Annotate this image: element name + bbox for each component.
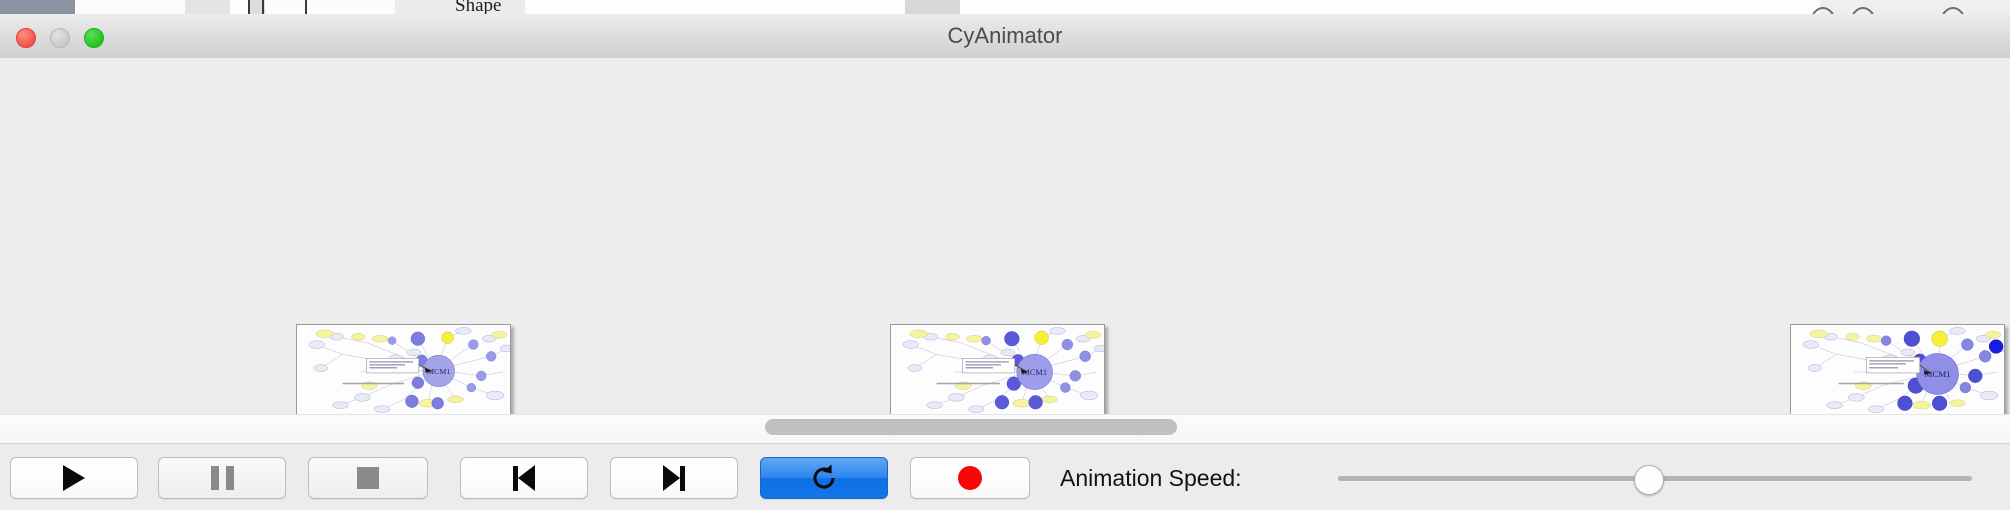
previous-frame-button[interactable] [460, 457, 588, 499]
animation-speed-slider-thumb[interactable] [1634, 465, 1664, 495]
play-icon [63, 465, 85, 491]
background-divider [262, 0, 264, 15]
playback-control-bar: Animation Speed: [0, 443, 2010, 510]
network-preview: MCM1 [297, 325, 510, 415]
background-window-strip: Shape [0, 0, 2010, 15]
skip-forward-icon [663, 465, 685, 491]
timeline-scrollbar-thumb[interactable] [765, 419, 1177, 435]
svg-text:MCM1: MCM1 [1924, 369, 1950, 379]
background-tab [0, 0, 75, 15]
background-divider [248, 0, 250, 15]
cyanimator-window: Shape CyAnimator + Clear All Frames [0, 0, 2010, 510]
frame-thumbnail[interactable]: MCM1 [890, 324, 1105, 416]
next-frame-button[interactable] [610, 457, 738, 499]
background-segment [1820, 0, 2010, 15]
background-segment [525, 0, 905, 15]
timeline-panel[interactable]: MCM1 [0, 113, 2010, 413]
network-preview: MCM1 [1791, 325, 2004, 415]
svg-text:MCM1: MCM1 [427, 367, 450, 376]
window-title: CyAnimator [0, 14, 2010, 58]
background-segment [960, 0, 1820, 15]
pause-icon [211, 466, 234, 490]
frame-toolbar: + Clear All Frames [0, 58, 2010, 114]
pause-button[interactable] [158, 457, 286, 499]
background-divider [305, 0, 307, 15]
title-bar[interactable]: CyAnimator [0, 14, 2010, 59]
skip-back-icon [513, 465, 535, 491]
loop-button[interactable] [760, 457, 888, 499]
background-segment [230, 0, 250, 15]
play-button[interactable] [10, 457, 138, 499]
frame-thumbnail[interactable]: MCM1 [296, 324, 511, 416]
network-preview: MCM1 [891, 325, 1104, 415]
stop-icon [357, 467, 379, 489]
animation-speed-label: Animation Speed: [1060, 457, 1242, 499]
background-segment [905, 0, 960, 15]
record-button[interactable] [910, 457, 1030, 499]
stop-button[interactable] [308, 457, 428, 499]
background-segment [265, 0, 395, 15]
record-icon [958, 466, 982, 490]
frame-thumbnail[interactable]: MCM1 [1790, 324, 2005, 416]
background-segment [185, 0, 230, 15]
loop-icon [809, 463, 839, 493]
background-window-label: Shape [455, 0, 501, 15]
